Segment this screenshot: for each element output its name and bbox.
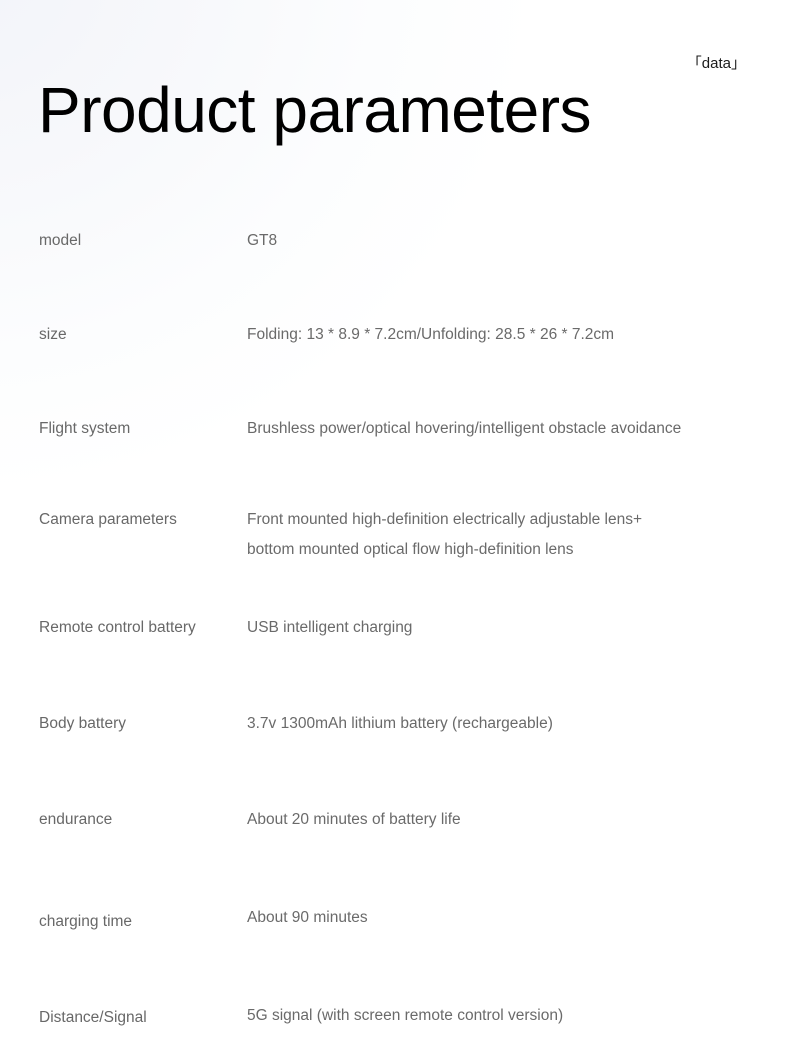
spec-value-remote-control-battery: USB intelligent charging <box>247 617 752 639</box>
spec-label-size: size <box>39 324 247 346</box>
spec-label-charging-time: charging time <box>39 911 247 933</box>
spec-value-body-battery: 3.7v 1300mAh lithium battery (rechargeab… <box>247 713 752 735</box>
spec-value-distance-signal: 5G signal (with screen remote control ve… <box>247 1005 752 1027</box>
spec-value-line: GT8 <box>247 230 752 252</box>
page-title: Product parameters <box>38 78 591 142</box>
spec-value-line: Brushless power/optical hovering/intelli… <box>247 418 752 440</box>
spec-label-flight-system: Flight system <box>39 418 247 440</box>
spec-value-line: About 90 minutes <box>247 907 752 929</box>
table-row: endurance About 20 minutes of battery li… <box>0 809 790 867</box>
spec-table: model GT8 size Folding: 13 * 8.9 * 7.2cm… <box>0 208 790 1063</box>
spec-label-distance-signal: Distance/Signal <box>39 1007 247 1029</box>
spec-value-flight-system: Brushless power/optical hovering/intelli… <box>247 418 752 440</box>
spec-value-line: Folding: 13 * 8.9 * 7.2cm/Unfolding: 28.… <box>247 324 752 346</box>
spec-value-line: bottom mounted optical flow high-definit… <box>247 539 752 561</box>
table-row: Distance/Signal 5G signal (with screen r… <box>0 1005 790 1063</box>
table-row: Body battery 3.7v 1300mAh lithium batter… <box>0 713 790 771</box>
table-row: Camera parameters Front mounted high-def… <box>0 509 790 567</box>
table-row: Remote control battery USB intelligent c… <box>0 617 790 675</box>
spec-value-model: GT8 <box>247 230 752 252</box>
spec-value-endurance: About 20 minutes of battery life <box>247 809 752 831</box>
product-parameters-page: 「data」 Product parameters model GT8 size… <box>0 0 790 881</box>
table-row: Flight system Brushless power/optical ho… <box>0 418 790 476</box>
spec-label-remote-control-battery: Remote control battery <box>39 617 247 639</box>
spec-label-endurance: endurance <box>39 809 247 831</box>
spec-value-size: Folding: 13 * 8.9 * 7.2cm/Unfolding: 28.… <box>247 324 752 346</box>
spec-label-camera-parameters: Camera parameters <box>39 509 247 531</box>
spec-value-charging-time: About 90 minutes <box>247 907 752 929</box>
table-row: size Folding: 13 * 8.9 * 7.2cm/Unfolding… <box>0 324 790 382</box>
spec-value-line: 5G signal (with screen remote control ve… <box>247 1005 752 1027</box>
table-row: charging time About 90 minutes <box>0 909 790 967</box>
spec-label-body-battery: Body battery <box>39 713 247 735</box>
spec-value-line: 3.7v 1300mAh lithium battery (rechargeab… <box>247 713 752 735</box>
data-tag-label: 「data」 <box>687 56 746 71</box>
table-row: model GT8 <box>0 230 790 288</box>
spec-value-line: USB intelligent charging <box>247 617 752 639</box>
spec-label-model: model <box>39 230 247 252</box>
spec-value-line: About 20 minutes of battery life <box>247 809 752 831</box>
spec-value-line: Front mounted high-definition electrical… <box>247 509 752 531</box>
spec-value-camera-parameters: Front mounted high-definition electrical… <box>247 509 752 561</box>
